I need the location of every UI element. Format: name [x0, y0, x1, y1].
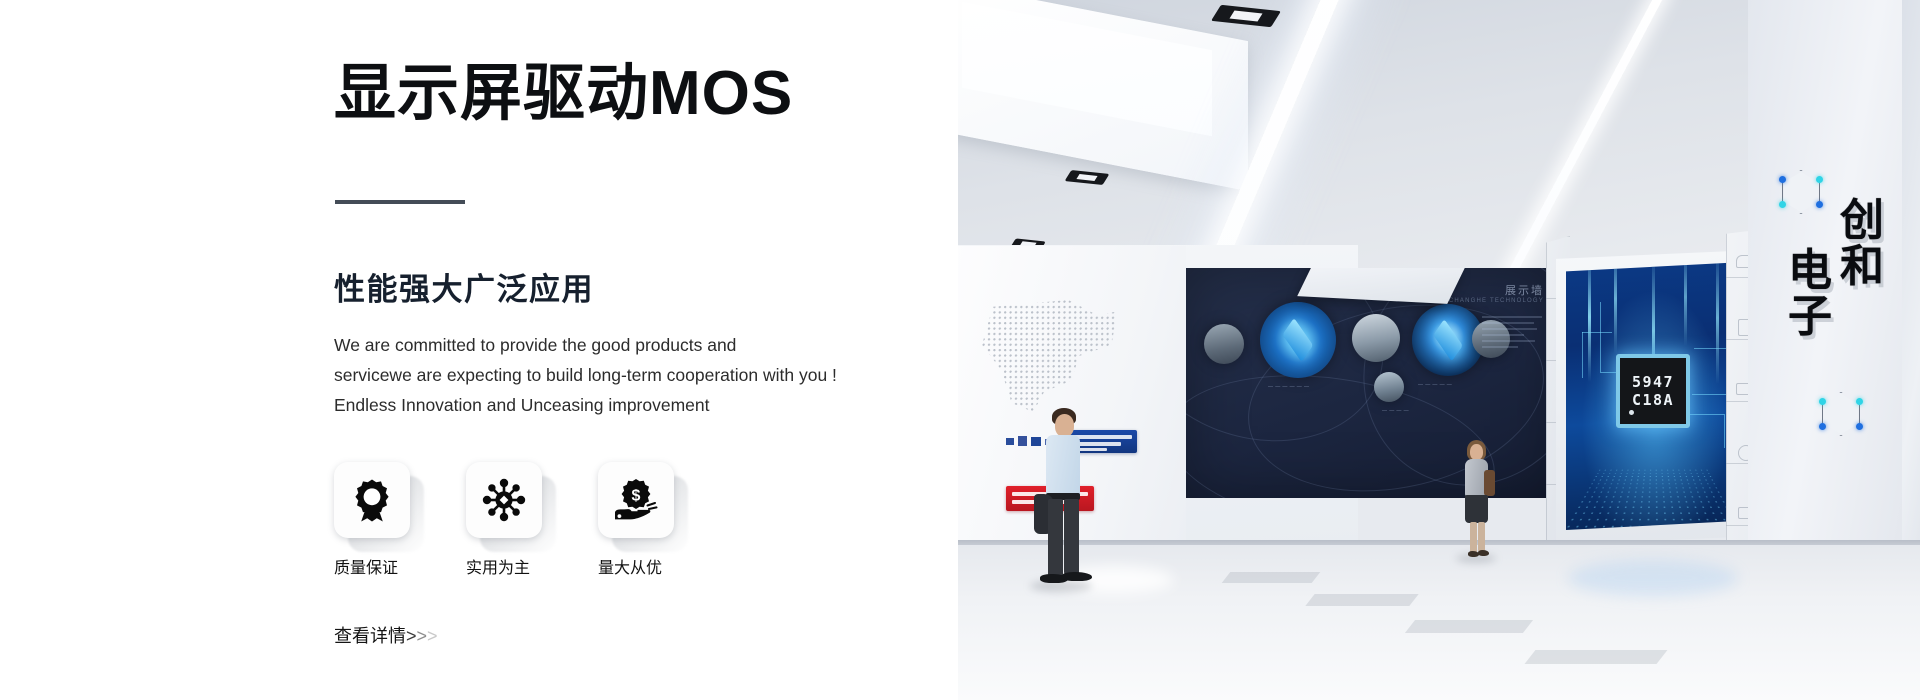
- floor-inlay: [1222, 572, 1321, 583]
- floor-reflection: [1568, 560, 1738, 596]
- wall-medallion-chip: [1260, 302, 1336, 378]
- molecule-hexagon-icon: [1782, 170, 1820, 214]
- feature-label: 质量保证: [334, 554, 410, 578]
- brand-char-2: 和: [1840, 244, 1884, 290]
- feature-item-practical[interactable]: 实用为主: [466, 462, 542, 578]
- exhibition-wall-subtitle: CHANGHE TECHNOLOGY: [1449, 298, 1544, 304]
- page-title: 显示屏驱动MOS: [334, 58, 793, 129]
- floor-inlay: [1525, 650, 1668, 664]
- banner-stage: 显示屏驱动MOS 性能强大广泛应用 We are committed to pr…: [0, 0, 1920, 700]
- showroom-interior-photo: — — — — — — — — — — — — — — — 展示墙 CHANGH…: [958, 0, 1920, 700]
- visitor-man: [1024, 408, 1104, 598]
- exhibition-wall-text-block: [1482, 316, 1542, 352]
- feature-card-wrap: [334, 462, 410, 538]
- feature-label: 实用为主: [466, 554, 542, 578]
- chip-graphic: 5947 C18A: [1616, 354, 1690, 428]
- description-paragraph: We are committed to provide the good pro…: [334, 330, 934, 420]
- paragraph-line-1: We are committed to provide the good pro…: [334, 330, 934, 360]
- svg-text:$: $: [632, 488, 641, 505]
- brand-text-column-left: 电 子: [1788, 248, 1832, 340]
- feature-list: 质量保证: [334, 462, 674, 578]
- network-hub-icon: [482, 478, 526, 522]
- chip-code-line-2: C18A: [1632, 391, 1674, 409]
- award-ribbon-icon: [351, 478, 393, 522]
- paragraph-line-2: servicewe are expecting to build long-te…: [334, 360, 934, 390]
- brand-char-3: 电: [1788, 248, 1832, 294]
- wall-medallion: [1352, 314, 1400, 362]
- cta-label: 查看详情: [334, 626, 406, 646]
- feature-card: [466, 462, 542, 538]
- brand-char-4: 子: [1788, 294, 1832, 340]
- chevron-3-icon: >: [427, 626, 438, 646]
- floor-inlay: [1405, 620, 1533, 633]
- feature-card: [334, 462, 410, 538]
- wall-medallion: [1374, 372, 1404, 402]
- feature-label: 量大从优: [598, 554, 674, 578]
- chip-code-line-1: 5947: [1632, 373, 1674, 391]
- left-text-panel: 显示屏驱动MOS 性能强大广泛应用 We are committed to pr…: [0, 0, 958, 700]
- floor-inlay: [1305, 594, 1418, 606]
- led-display-screen: 5947 C18A: [1566, 262, 1744, 530]
- exhibition-wall-title: 展示墙: [1505, 282, 1544, 298]
- wall-medallion: [1204, 324, 1244, 364]
- chevron-2-icon: >: [417, 626, 428, 646]
- feature-card-wrap: $: [598, 462, 674, 538]
- chevron-1-icon: >: [406, 626, 417, 646]
- brand-char-1: 创: [1840, 198, 1884, 244]
- title-divider: [335, 200, 465, 204]
- visitor-woman: [1450, 440, 1502, 566]
- feature-item-quality[interactable]: 质量保证: [334, 462, 410, 578]
- paragraph-line-3: Endless Innovation and Unceasing improve…: [334, 390, 934, 420]
- feature-item-bulk[interactable]: $ 量大从优: [598, 462, 674, 578]
- molecule-hexagon-icon: [1822, 392, 1860, 436]
- hand-money-icon: $: [613, 478, 659, 522]
- view-details-link[interactable]: 查看详情>>>: [334, 622, 438, 648]
- brand-text-column-right: 创 和: [1840, 198, 1884, 290]
- subheadline: 性能强大广泛应用: [334, 264, 594, 309]
- feature-card-wrap: [466, 462, 542, 538]
- feature-card: $: [598, 462, 674, 538]
